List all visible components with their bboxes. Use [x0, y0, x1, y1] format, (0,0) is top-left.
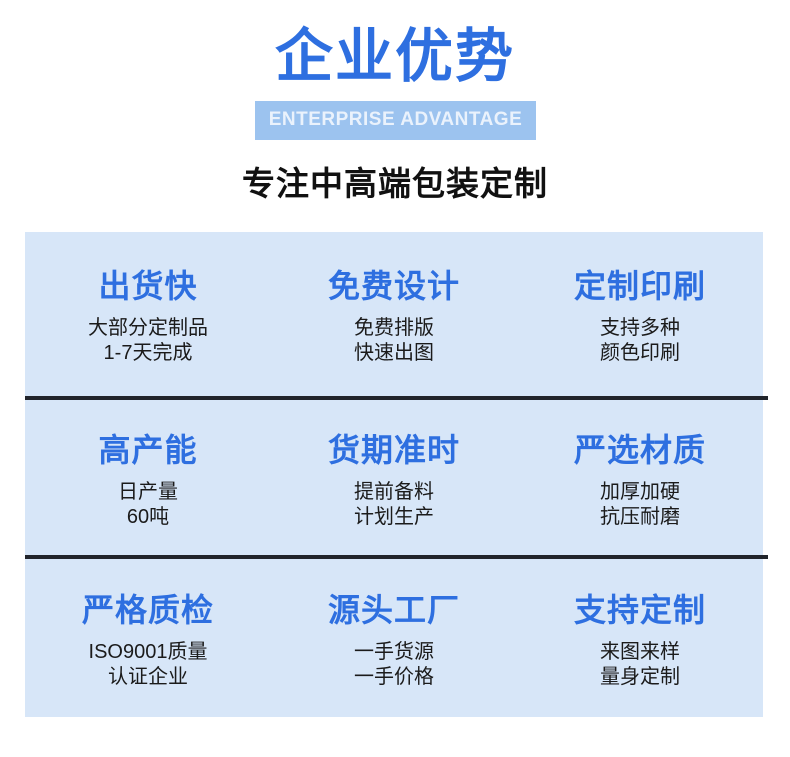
advantage-line: 一手价格 — [354, 665, 434, 690]
advantage-title: 源头工厂 — [328, 590, 460, 630]
advantage-title: 严格质检 — [82, 590, 214, 630]
advantage-cell: 出货快 大部分定制品 1-7天完成 — [25, 232, 271, 396]
advantage-description: 一手货源 一手价格 — [354, 640, 434, 690]
advantage-line: ISO9001质量 — [89, 640, 208, 665]
advantage-line: 支持多种 — [600, 316, 680, 341]
advantage-description: 来图来样 量身定制 — [600, 640, 680, 690]
advantage-line: 来图来样 — [600, 640, 680, 665]
advantage-line: 计划生产 — [354, 505, 434, 530]
advantage-description: 提前备料 计划生产 — [354, 480, 434, 530]
advantage-line: 认证企业 — [89, 665, 208, 690]
advantage-title: 出货快 — [98, 266, 197, 306]
advantage-description: 加厚加硬 抗压耐磨 — [600, 480, 680, 530]
advantage-cell: 高产能 日产量 60吨 — [25, 400, 271, 555]
advantage-title: 定制印刷 — [574, 266, 706, 306]
advantage-cell: 严格质检 ISO9001质量 认证企业 — [25, 559, 271, 717]
advantage-cell: 免费设计 免费排版 快速出图 — [271, 232, 517, 396]
advantage-cell: 货期准时 提前备料 计划生产 — [271, 400, 517, 555]
advantage-cell: 定制印刷 支持多种 颜色印刷 — [517, 232, 763, 396]
page-header: 企业优势 ENTERPRISE ADVANTAGE — [0, 0, 790, 150]
advantage-description: 大部分定制品 1-7天完成 — [88, 316, 208, 366]
advantage-description: 免费排版 快速出图 — [354, 316, 434, 366]
advantage-line: 免费排版 — [354, 316, 434, 341]
advantage-description: 支持多种 颜色印刷 — [600, 316, 680, 366]
advantage-line: 提前备料 — [354, 480, 434, 505]
advantage-row: 严格质检 ISO9001质量 认证企业 源头工厂 一手货源 一手价格 支持定制 … — [25, 559, 763, 717]
advantage-description: ISO9001质量 认证企业 — [89, 640, 208, 690]
advantage-title: 货期准时 — [328, 430, 460, 470]
advantage-line: 日产量 — [118, 480, 178, 505]
advantage-line: 量身定制 — [600, 665, 680, 690]
advantage-title: 支持定制 — [574, 590, 706, 630]
advantage-cell: 严选材质 加厚加硬 抗压耐磨 — [517, 400, 763, 555]
advantage-title: 严选材质 — [574, 430, 706, 470]
page-title-en: ENTERPRISE ADVANTAGE — [255, 108, 536, 132]
advantage-cell: 支持定制 来图来样 量身定制 — [517, 559, 763, 717]
advantage-line: 大部分定制品 — [88, 316, 208, 341]
page-subtitle: 专注中高端包装定制 — [0, 164, 790, 204]
advantage-line: 1-7天完成 — [88, 341, 208, 366]
advantage-line: 一手货源 — [354, 640, 434, 665]
page-title-cn: 企业优势 — [0, 24, 790, 90]
advantage-title: 高产能 — [98, 430, 197, 470]
advantage-row: 高产能 日产量 60吨 货期准时 提前备料 计划生产 严选材质 加厚加硬 抗压耐… — [25, 400, 763, 555]
advantage-line: 加厚加硬 — [600, 480, 680, 505]
advantage-cell: 源头工厂 一手货源 一手价格 — [271, 559, 517, 717]
advantage-line: 抗压耐磨 — [600, 505, 680, 530]
advantage-line: 60吨 — [118, 505, 178, 530]
advantage-description: 日产量 60吨 — [118, 480, 178, 530]
advantage-row: 出货快 大部分定制品 1-7天完成 免费设计 免费排版 快速出图 定制印刷 支持… — [25, 232, 763, 396]
advantage-line: 颜色印刷 — [600, 341, 680, 366]
advantage-title: 免费设计 — [328, 266, 460, 306]
advantage-line: 快速出图 — [354, 341, 434, 366]
advantage-grid: 出货快 大部分定制品 1-7天完成 免费设计 免费排版 快速出图 定制印刷 支持… — [25, 232, 763, 717]
